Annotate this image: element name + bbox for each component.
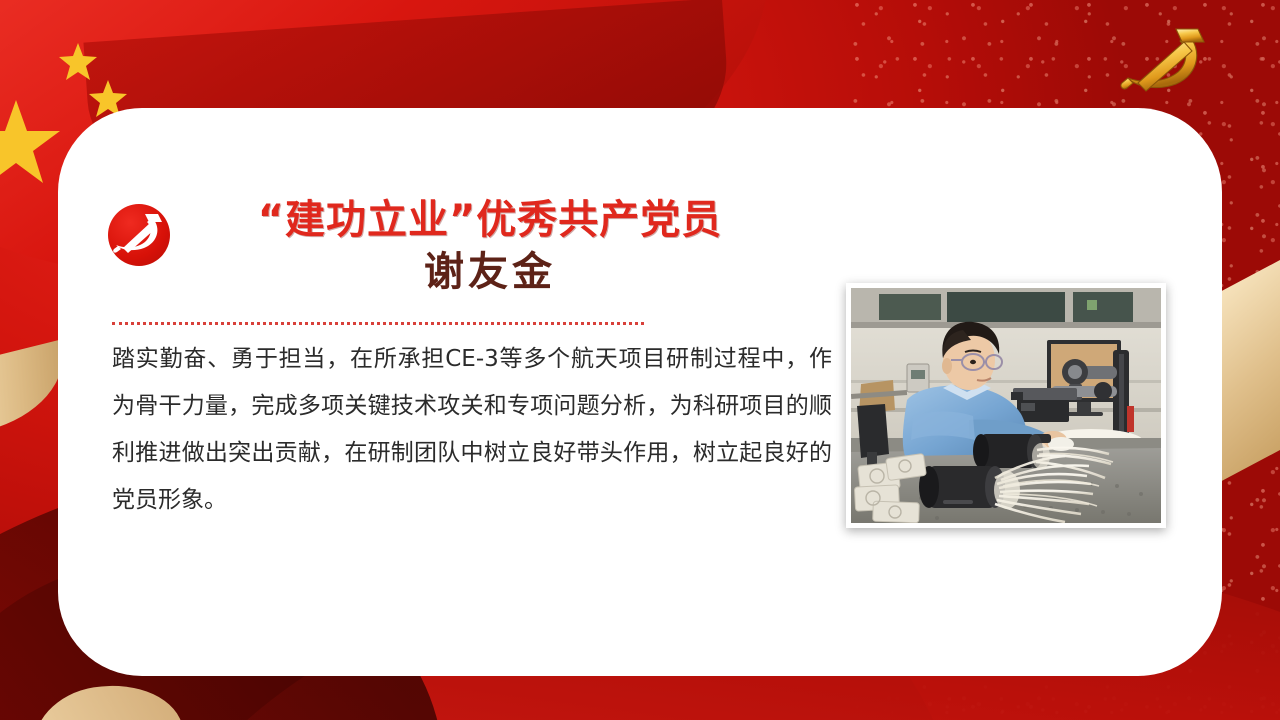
lab-engineer-photo bbox=[851, 288, 1161, 523]
title-block: “建功立业”优秀共产党员 谢友金 bbox=[190, 196, 790, 297]
party-badge bbox=[108, 204, 170, 266]
dotted-divider bbox=[112, 322, 644, 325]
person-name: 谢友金 bbox=[190, 247, 790, 297]
page-title: “建功立业”优秀共产党员 bbox=[190, 196, 790, 245]
photo-frame bbox=[846, 283, 1166, 528]
slide-root: “建功立业”优秀共产党员 谢友金 踏实勤奋、勇于担当，在所承担CE-3等多个航天… bbox=[0, 0, 1280, 720]
content-card: “建功立业”优秀共产党员 谢友金 踏实勤奋、勇于担当，在所承担CE-3等多个航天… bbox=[58, 108, 1222, 676]
gold-hammer-sickle-emblem-icon bbox=[1114, 22, 1218, 100]
party-hammer-sickle-badge-icon bbox=[108, 204, 170, 266]
description-paragraph: 踏实勤奋、勇于担当，在所承担CE-3等多个航天项目研制过程中，作为骨干力量，完成… bbox=[112, 336, 832, 524]
